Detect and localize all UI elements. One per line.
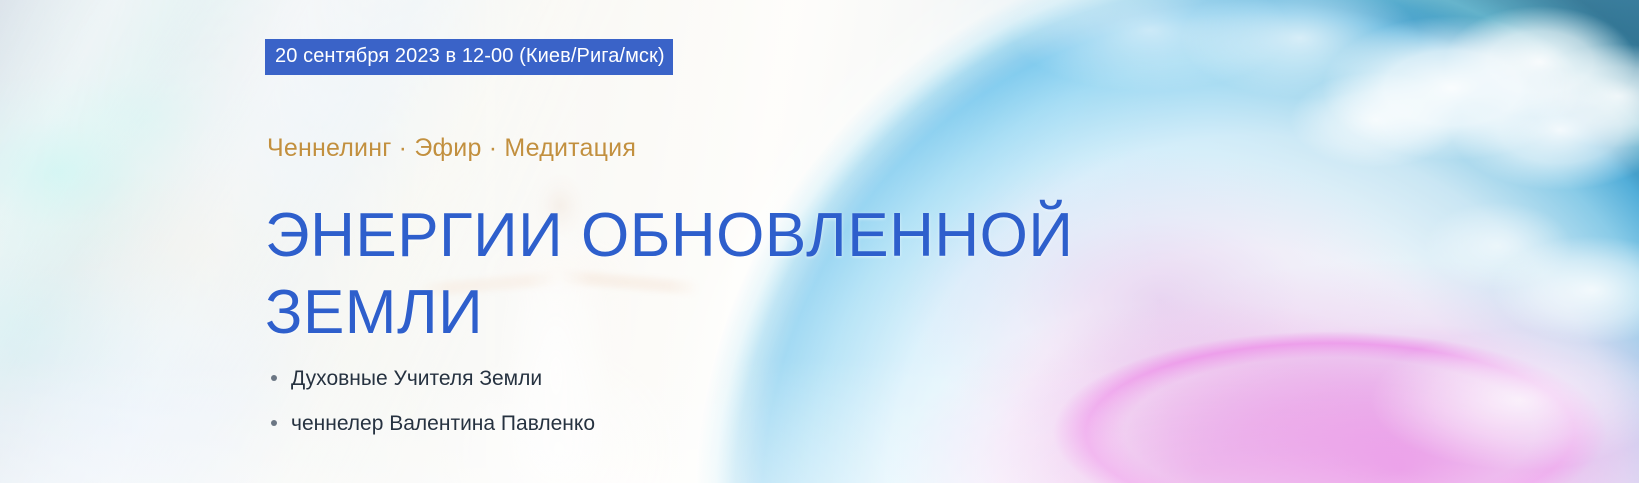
- list-item-label: ченнелер Валентина Павленко: [291, 412, 595, 435]
- promo-banner: 20 сентября 2023 в 12-00 (Киев/Рига/мск)…: [0, 0, 1639, 483]
- list-item: Духовные Учителя Земли: [269, 368, 595, 389]
- event-date-badge: 20 сентября 2023 в 12-00 (Киев/Рига/мск): [265, 39, 673, 75]
- bullet-dot-icon: [271, 375, 277, 381]
- list-item: ченнелер Валентина Павленко: [269, 413, 595, 434]
- event-format-eyebrow: Ченнелинг · Эфир · Медитация: [267, 136, 636, 161]
- banner-content: 20 сентября 2023 в 12-00 (Киев/Рига/мск)…: [265, 0, 1165, 483]
- headline-line-2: ЗЕМЛИ: [265, 275, 1073, 352]
- event-details-list: Духовные Учителя Земли ченнелер Валентин…: [269, 368, 595, 458]
- page-title: ЭНЕРГИИ ОБНОВЛЕННОЙ ЗЕМЛИ: [265, 198, 1073, 352]
- list-item-label: Духовные Учителя Земли: [291, 367, 542, 390]
- headline-line-1: ЭНЕРГИИ ОБНОВЛЕННОЙ: [265, 198, 1073, 275]
- bullet-dot-icon: [271, 420, 277, 426]
